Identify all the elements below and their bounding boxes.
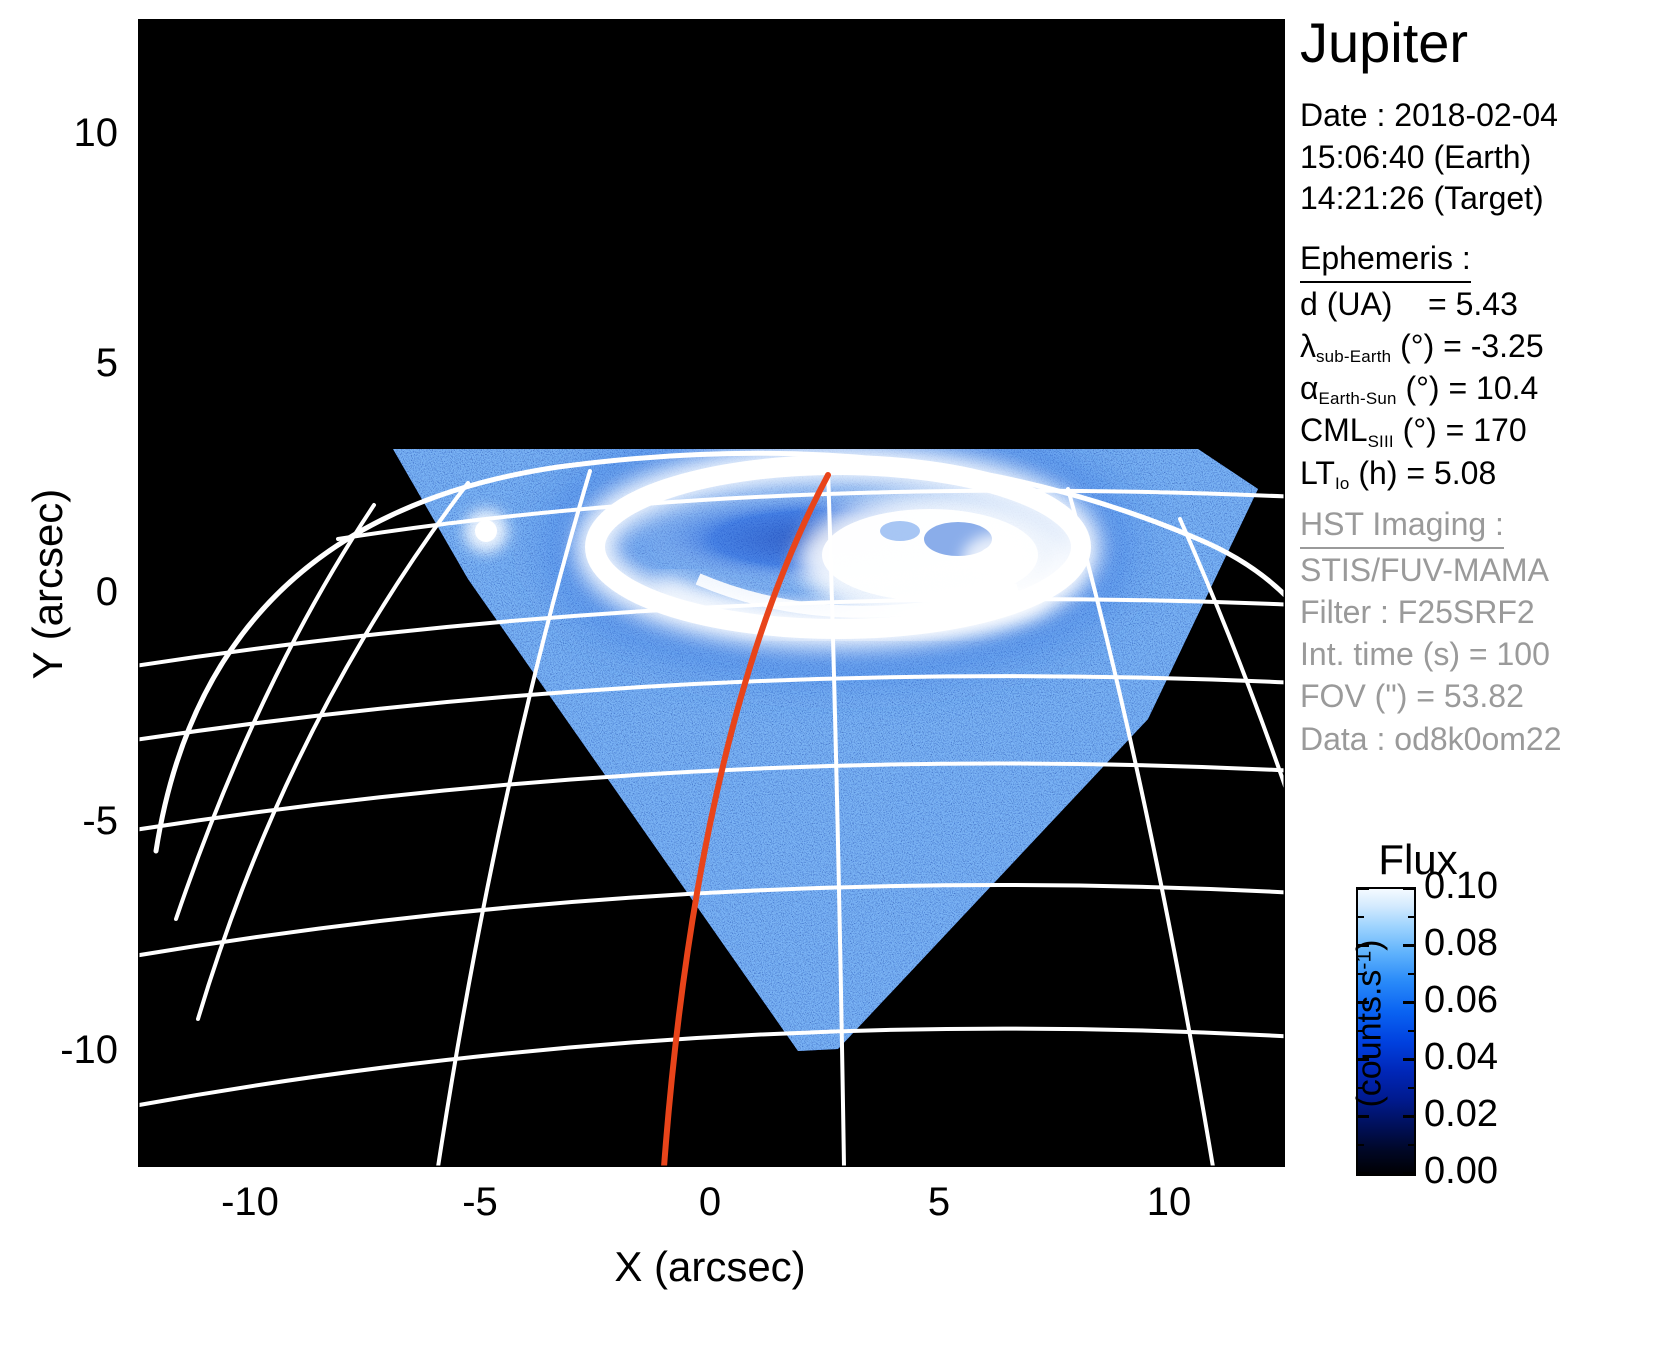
hst-fov: FOV (") = 53.82	[1300, 675, 1562, 717]
colorbar-group: Flux	[1300, 836, 1677, 1196]
alpha-subscript: Earth-Sun	[1319, 389, 1397, 408]
y-tick-10: 10	[8, 113, 118, 153]
cml-value: = 170	[1446, 412, 1527, 448]
ephemeris-block: Ephemeris : d (UA) = 5.43 λsub-Earth (°)…	[1300, 238, 1544, 494]
ephemeris-row-io-local-time: LTIo (h) = 5.08	[1300, 452, 1544, 494]
cb-axis-label-text: (counts.s	[1351, 970, 1389, 1108]
figure-root: 10 5 0 -5 -10 Y (arcsec) -10 -5 0 5 10 X…	[0, 0, 1677, 1367]
jupiter-aurora-image	[138, 19, 1285, 1167]
x-tick-minus5: -5	[420, 1182, 540, 1222]
ephemeris-row-phase-angle: αEarth-Sun (°) = 10.4	[1300, 367, 1544, 409]
ephemeris-row-cml: CMLSIII (°) = 170	[1300, 409, 1544, 451]
hst-imaging-heading: HST Imaging :	[1300, 504, 1504, 549]
ephemeris-heading: Ephemeris :	[1300, 238, 1471, 283]
cb-axis-label-exponent: -1	[1352, 951, 1375, 970]
cb-label-0.08: 0.08	[1424, 924, 1498, 962]
y-tick-minus5: -5	[8, 801, 118, 841]
y-tick-minus10: -10	[8, 1030, 118, 1070]
dawn-bright-spot	[962, 533, 1038, 585]
hst-filter: Filter : F25SRF2	[1300, 591, 1562, 633]
info-panel: Jupiter Date : 2018-02-04 15:06:40 (Eart…	[1300, 0, 1677, 1367]
cb-label-0.10: 0.10	[1424, 867, 1498, 905]
ephemeris-distance-value: = 5.43	[1428, 286, 1518, 322]
plot-canvas	[138, 19, 1285, 1167]
x-axis-label: X (arcsec)	[430, 1243, 990, 1291]
lambda-subscript: sub-Earth	[1316, 347, 1391, 366]
page-title: Jupiter	[1300, 14, 1468, 73]
cb-label-0.02: 0.02	[1424, 1095, 1498, 1133]
lambda-unit: (°)	[1400, 328, 1434, 364]
date-block: Date : 2018-02-04 15:06:40 (Earth) 14:21…	[1300, 95, 1558, 220]
ephemeris-row-distance: d (UA) = 5.43	[1300, 283, 1544, 325]
lt-value: = 5.08	[1406, 455, 1496, 491]
cb-axis-label-close: )	[1351, 939, 1389, 950]
lt-unit: (h)	[1358, 455, 1397, 491]
cml-subscript: SIII	[1368, 432, 1394, 451]
lt-subscript: Io	[1335, 474, 1350, 493]
x-tick-5: 5	[879, 1182, 999, 1222]
cml-symbol: CML	[1300, 412, 1368, 448]
ephemeris-distance-label: d (UA)	[1300, 286, 1392, 322]
hst-data-id: Data : od8k0om22	[1300, 718, 1562, 760]
cml-unit: (°)	[1403, 412, 1437, 448]
lambda-value: = -3.25	[1443, 328, 1544, 364]
hst-instrument: STIS/FUV-MAMA	[1300, 549, 1562, 591]
x-tick-minus10: -10	[190, 1182, 310, 1222]
y-axis-label: Y (arcsec)	[24, 414, 72, 754]
alpha-unit: (°)	[1405, 370, 1439, 406]
y-tick-5: 5	[8, 343, 118, 383]
hst-int-time: Int. time (s) = 100	[1300, 633, 1562, 675]
lt-symbol: LT	[1300, 455, 1335, 491]
date-line: Date : 2018-02-04	[1300, 95, 1558, 137]
cb-label-0.00: 0.00	[1424, 1152, 1498, 1190]
alpha-value: = 10.4	[1448, 370, 1538, 406]
cb-label-0.06: 0.06	[1424, 981, 1498, 1019]
hst-imaging-block: HST Imaging : STIS/FUV-MAMA Filter : F25…	[1300, 503, 1562, 760]
target-time-line: 14:21:26 (Target)	[1300, 178, 1558, 220]
ephemeris-row-sub-earth-latitude: λsub-Earth (°) = -3.25	[1300, 325, 1544, 367]
alpha-symbol: α	[1300, 370, 1319, 406]
cb-label-0.04: 0.04	[1424, 1038, 1498, 1076]
x-tick-0: 0	[650, 1182, 770, 1222]
x-tick-10: 10	[1109, 1182, 1229, 1222]
lambda-symbol: λ	[1300, 328, 1316, 364]
colorbar-axis-label: (counts.s-1)	[1351, 874, 1390, 1174]
earth-time-line: 15:06:40 (Earth)	[1300, 137, 1558, 179]
